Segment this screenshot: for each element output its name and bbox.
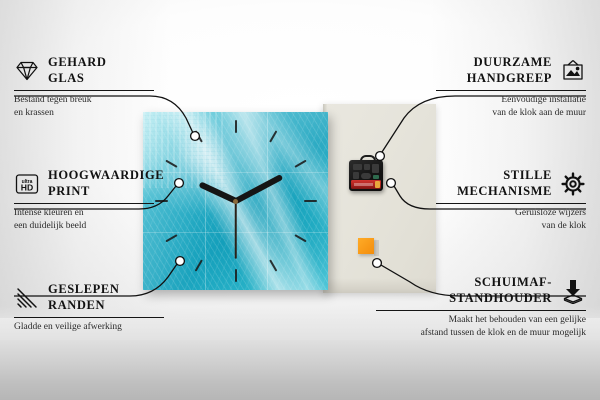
clock-tick (155, 200, 168, 202)
mechanism-body (349, 160, 383, 191)
callout-title-line1: SCHUIMAF- (449, 275, 552, 291)
callout-geslepen-randen[interactable]: GESLEPEN RANDEN Gladde en veilige afwerk… (14, 282, 164, 334)
callout-subtitle-line2: een duidelijk beeld (14, 220, 154, 233)
callout-title-line1: GEHARD (48, 55, 106, 71)
callout-title-line2: PRINT (48, 184, 164, 200)
glass-wall-clock (143, 112, 328, 290)
callout-subtitle-line1: Eenvoudige installatie (436, 94, 586, 107)
clock-tick (304, 200, 317, 202)
callout-divider (436, 90, 586, 91)
callout-subtitle-line1: Gladde en veilige afwerking (14, 321, 164, 334)
callout-title-line1: GESLEPEN (48, 282, 120, 298)
callout-divider (14, 317, 164, 318)
diamond-icon (14, 58, 40, 84)
foam-spacer (358, 238, 374, 254)
ultra-hd-icon: ultra HD (14, 171, 40, 197)
callout-subtitle-line1: Bestand tegen breuk (14, 94, 154, 107)
clock-center-cap (233, 199, 238, 204)
picture-frame-icon (560, 58, 586, 84)
callout-divider (14, 90, 154, 91)
callout-divider (376, 310, 586, 311)
callout-subtitle-line2: van de klok (436, 220, 586, 233)
callout-title-line2: STANDHOUDER (449, 291, 552, 307)
product-scene (143, 100, 436, 296)
callout-divider (436, 203, 586, 204)
callout-divider (14, 203, 154, 204)
clock-second-hand (235, 201, 237, 259)
callout-title-line1: DUURZAME (467, 55, 552, 71)
svg-text:HD: HD (21, 182, 33, 192)
callout-subtitle-line2: afstand tussen de klok en de muur mogeli… (376, 327, 586, 340)
mechanism-battery (351, 180, 381, 189)
gear-icon (560, 171, 586, 197)
callout-title-line2: HANDGREEP (467, 71, 552, 87)
clock-tick (235, 120, 237, 133)
callout-title-line2: MECHANISME (457, 184, 552, 200)
wall-surface (323, 104, 436, 293)
callout-title-line2: GLAS (48, 71, 106, 87)
foam-spacer-side (374, 240, 379, 256)
callout-subtitle-line1: Intense kleuren en (14, 207, 154, 220)
callout-schuimaf-standhouder[interactable]: SCHUIMAF- STANDHOUDER Maakt het behouden… (376, 275, 586, 340)
callout-hoogwaardige-print[interactable]: ultra HD HOOGWAARDIGE PRINT Intense kleu… (14, 168, 154, 233)
callout-subtitle-line1: Maakt het behouden van een gelijke (376, 314, 586, 327)
infographic-canvas: GEHARD GLAS Bestand tegen breuk en krass… (0, 0, 600, 400)
callout-stille-mechanisme[interactable]: STILLE MECHANISME Geruisloze wijzers van… (436, 168, 586, 233)
callout-subtitle-line1: Geruisloze wijzers (436, 207, 586, 220)
callout-title-line1: STILLE (457, 168, 552, 184)
quartz-mechanism (349, 160, 383, 191)
callout-gehard-glas[interactable]: GEHARD GLAS Bestand tegen breuk en krass… (14, 55, 154, 120)
clock-tick (235, 269, 237, 282)
callout-title-line1: HOOGWAARDIGE (48, 168, 164, 184)
down-arrow-pad-icon (560, 278, 586, 304)
callout-title-line2: RANDEN (48, 298, 120, 314)
beveled-edge-icon (14, 285, 40, 311)
callout-subtitle-line2: en krassen (14, 107, 154, 120)
callout-subtitle-line2: van de klok aan de muur (436, 107, 586, 120)
callout-duurzame-handgreep[interactable]: DUURZAME HANDGREEP Eenvoudige installati… (436, 55, 586, 120)
